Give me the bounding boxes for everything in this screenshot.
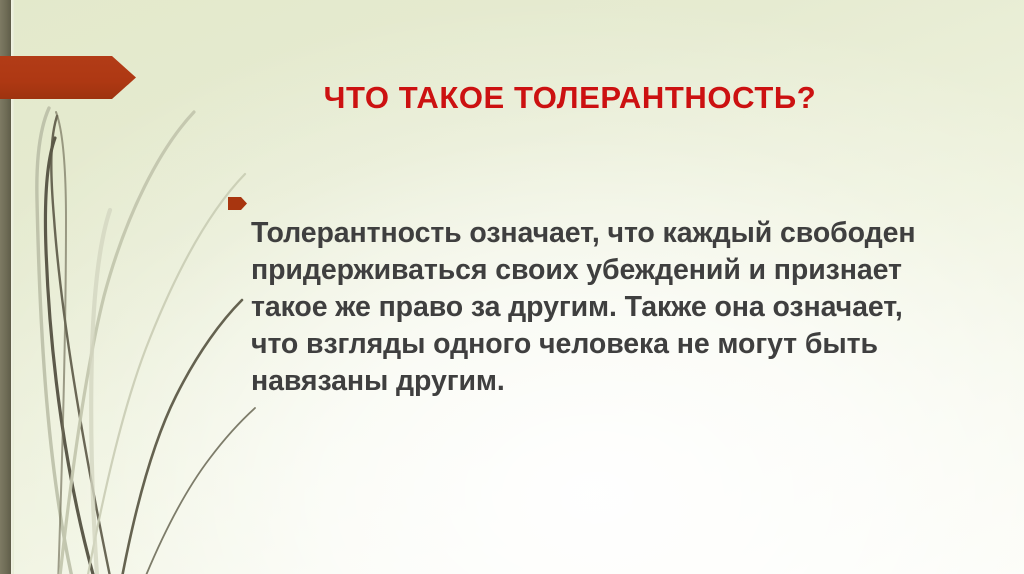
title-arrow-banner (0, 56, 136, 99)
slide-title: ЧТО ТАКОЕ ТОЛЕРАНТНОСТЬ? (140, 76, 1000, 120)
slide-canvas: ЧТО ТАКОЕ ТОЛЕРАНТНОСТЬ? Толерантность о… (0, 0, 1024, 574)
bullet-item-text: Толерантность означает, что каждый свобо… (251, 215, 928, 400)
bullet-list-item: Толерантность означает, что каждый свобо… (228, 186, 928, 428)
body-content-block: Толерантность означает, что каждый свобо… (228, 186, 928, 428)
arrow-bullet-icon (228, 197, 247, 210)
